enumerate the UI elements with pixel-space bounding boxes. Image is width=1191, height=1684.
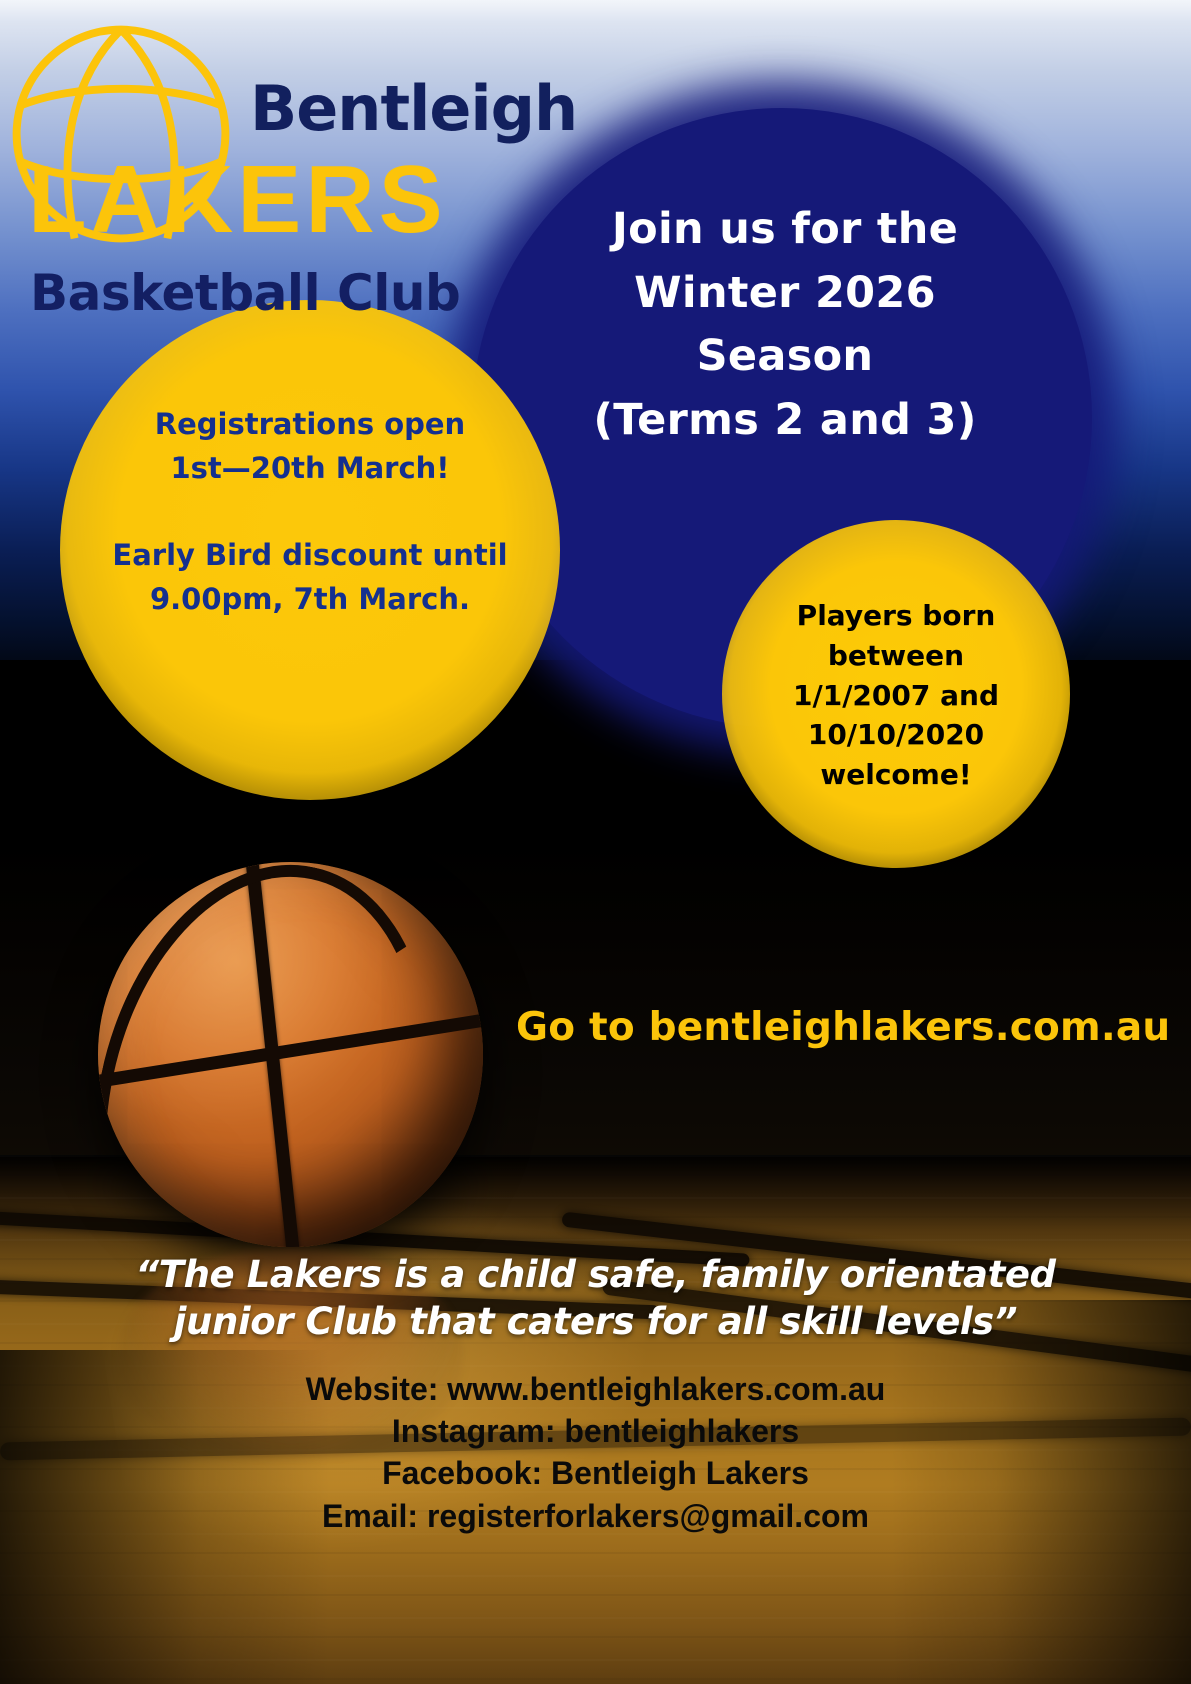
poster-canvas: Bentleigh LAKERS Basketball Club Join us… bbox=[0, 0, 1191, 1684]
contact-website[interactable]: Website: www.bentleighlakers.com.au bbox=[60, 1368, 1131, 1410]
contact-email[interactable]: Email: registerforlakers@gmail.com bbox=[60, 1495, 1131, 1537]
logo-lakers-text: LAKERS bbox=[28, 145, 447, 255]
logo-bentleigh-text: Bentleigh bbox=[250, 72, 577, 145]
contact-details-block: Website: www.bentleighlakers.com.au Inst… bbox=[60, 1368, 1131, 1537]
registration-dates-line: 1st—20th March! bbox=[80, 447, 540, 491]
eligibility-line-4: 10/10/2020 bbox=[740, 715, 1052, 755]
contact-instagram[interactable]: Instagram: bentleighlakers bbox=[60, 1410, 1131, 1452]
early-bird-deadline-line: 9.00pm, 7th March. bbox=[80, 578, 540, 622]
headline-line-4: (Terms 2 and 3) bbox=[545, 389, 1025, 453]
eligibility-line-1: Players born bbox=[740, 596, 1052, 636]
quote-line-2: junior Club that caters for all skill le… bbox=[60, 1299, 1131, 1346]
club-quote: “The Lakers is a child safe, family orie… bbox=[60, 1252, 1131, 1345]
early-bird-line: Early Bird discount until bbox=[80, 534, 540, 578]
quote-line-1: “The Lakers is a child safe, family orie… bbox=[60, 1252, 1131, 1299]
headline-block: Join us for the Winter 2026 Season (Term… bbox=[545, 198, 1025, 453]
eligibility-line-5: welcome! bbox=[740, 755, 1052, 795]
registration-block: Registrations open 1st—20th March! Early… bbox=[80, 403, 540, 621]
registration-spacer bbox=[80, 490, 540, 534]
eligibility-line-2: between bbox=[740, 636, 1052, 676]
basketball-image bbox=[98, 862, 483, 1247]
headline-line-3: Season bbox=[545, 325, 1025, 389]
eligibility-block: Players born between 1/1/2007 and 10/10/… bbox=[740, 596, 1052, 795]
headline-line-2: Winter 2026 bbox=[545, 262, 1025, 326]
logo-basketball-club-text: Basketball Club bbox=[30, 264, 460, 322]
registration-open-line: Registrations open bbox=[80, 403, 540, 447]
eligibility-line-3: 1/1/2007 and bbox=[740, 676, 1052, 716]
website-call-to-action[interactable]: Go to bentleighlakers.com.au bbox=[516, 1005, 1176, 1050]
contact-facebook[interactable]: Facebook: Bentleigh Lakers bbox=[60, 1452, 1131, 1494]
headline-line-1: Join us for the bbox=[545, 198, 1025, 262]
